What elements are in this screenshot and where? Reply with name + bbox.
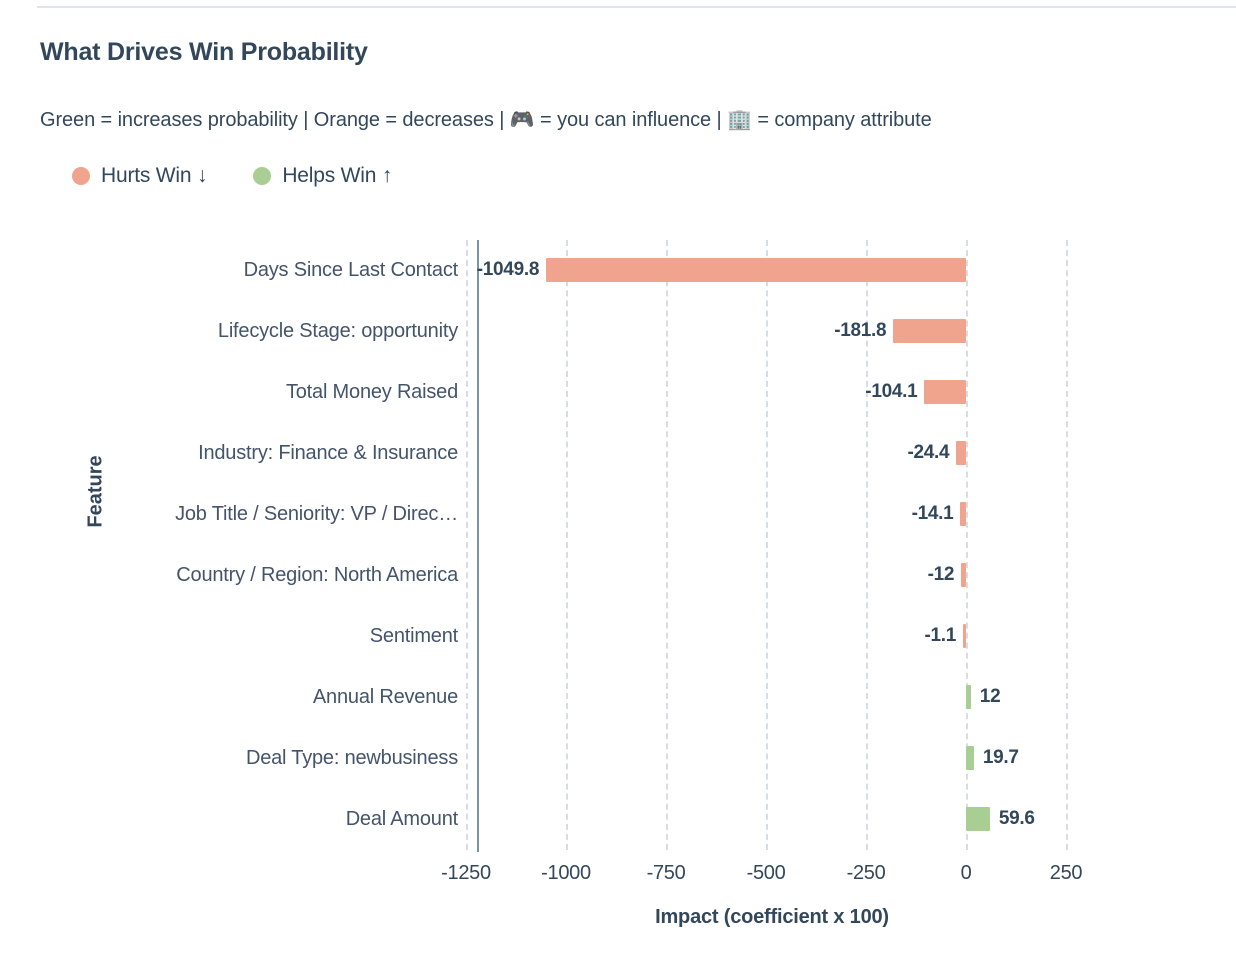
bar-row[interactable]: -12 [478, 545, 1066, 605]
bar-negative[interactable] [893, 319, 966, 343]
top-divider [37, 6, 1236, 8]
bar-value-label: -24.4 [907, 440, 949, 466]
gridline [1066, 240, 1068, 850]
y-tick-label: Deal Type: newbusiness [28, 745, 458, 771]
chart-subtitle: Green = increases probability | Orange =… [40, 107, 932, 132]
x-tick-label: -500 [747, 862, 786, 885]
legend-item-hurts-win[interactable]: Hurts Win ↓ [72, 164, 207, 188]
bar-value-label: -104.1 [865, 379, 917, 405]
bar-row[interactable]: -14.1 [478, 484, 1066, 544]
bar-negative[interactable] [963, 624, 966, 648]
bar-value-label: 59.6 [999, 806, 1035, 832]
y-tick-label: Industry: Finance & Insurance [28, 440, 458, 466]
x-tick-label: 0 [961, 862, 972, 885]
plot-area: -1049.8-181.8-104.1-24.4-14.1-12-1.11219… [478, 240, 1066, 850]
y-tick-label: Job Title / Seniority: VP / Direc… [28, 501, 458, 527]
chart-legend: Hurts Win ↓ Helps Win ↑ [72, 164, 392, 188]
y-tick-label: Deal Amount [28, 806, 458, 832]
bar-row[interactable]: -104.1 [478, 362, 1066, 422]
bar-value-label: 12 [980, 684, 1001, 710]
bar-row[interactable]: 12 [478, 667, 1066, 727]
page-title: What Drives Win Probability [40, 38, 368, 67]
y-axis-tick-labels: Days Since Last ContactLifecycle Stage: … [18, 240, 458, 850]
legend-item-label: Helps Win ↑ [282, 164, 392, 188]
legend-item-label: Hurts Win ↓ [101, 164, 207, 188]
bar-row[interactable]: -181.8 [478, 301, 1066, 361]
circle-marker-icon [72, 167, 90, 185]
bar-negative[interactable] [924, 380, 966, 404]
y-tick-label: Annual Revenue [28, 684, 458, 710]
x-tick-label: -250 [847, 862, 886, 885]
bar-row[interactable]: -1049.8 [478, 240, 1066, 300]
bar-value-label: -14.1 [912, 501, 954, 527]
bar-positive[interactable] [966, 807, 990, 831]
y-tick-label: Total Money Raised [28, 379, 458, 405]
x-axis-title: Impact (coefficient x 100) [478, 906, 1066, 929]
x-tick-label: -1000 [541, 862, 591, 885]
y-tick-label: Country / Region: North America [28, 562, 458, 588]
x-axis-tick-labels: -1250-1000-750-500-2500250 [478, 862, 1066, 892]
y-tick-label: Days Since Last Contact [28, 257, 458, 283]
bar-value-label: -12 [928, 562, 955, 588]
bar-row[interactable]: 19.7 [478, 728, 1066, 788]
bar-row[interactable]: 59.6 [478, 789, 1066, 849]
x-tick-label: 250 [1050, 862, 1082, 885]
bar-value-label: -1049.8 [477, 257, 539, 283]
legend-item-helps-win[interactable]: Helps Win ↑ [253, 164, 392, 188]
x-tick-label: -1250 [441, 862, 491, 885]
bar-negative[interactable] [956, 441, 966, 465]
bar-negative[interactable] [961, 563, 966, 587]
bar-negative[interactable] [960, 502, 966, 526]
bar-positive[interactable] [966, 685, 971, 709]
bar-positive[interactable] [966, 746, 974, 770]
chart-page: What Drives Win Probability Green = incr… [0, 0, 1236, 976]
bar-value-label: -181.8 [834, 318, 886, 344]
y-tick-label: Sentiment [28, 623, 458, 649]
circle-marker-icon [253, 167, 271, 185]
x-tick-label: -750 [647, 862, 686, 885]
bar-value-label: 19.7 [983, 745, 1019, 771]
bar-row[interactable]: -1.1 [478, 606, 1066, 666]
bar-negative[interactable] [546, 258, 966, 282]
bar-value-label: -1.1 [924, 623, 956, 649]
y-tick-label: Lifecycle Stage: opportunity [28, 318, 458, 344]
bar-row[interactable]: -24.4 [478, 423, 1066, 483]
gridline [466, 240, 468, 850]
